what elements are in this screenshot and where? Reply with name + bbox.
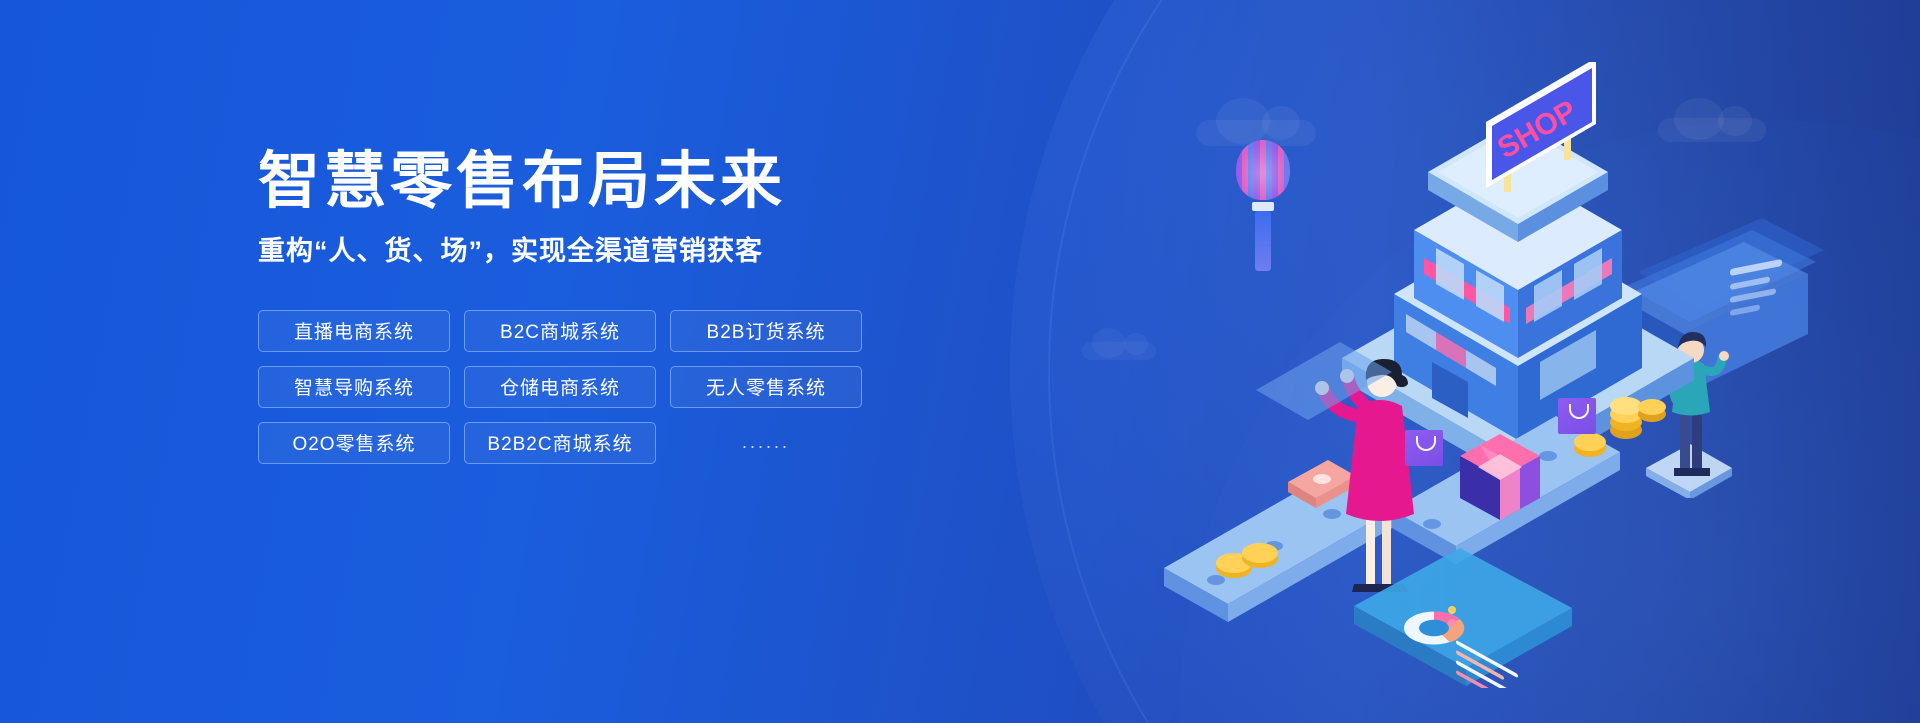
analytics-dashboard-icon [1348, 528, 1578, 688]
solution-tag-o2o-retail[interactable]: O2O零售系统 [258, 422, 450, 464]
solution-tag-more: ...... [670, 422, 862, 464]
page-title: 智慧零售布局未来 [258, 150, 958, 213]
banner-copy: 智慧零售布局未来 重构“人、货、场”，实现全渠道营销获客 直播电商系统 B2C商… [258, 150, 958, 464]
solution-tag-live-ecommerce[interactable]: 直播电商系统 [258, 310, 450, 352]
donut-chart-icon [1404, 612, 1464, 645]
solution-tag-b2b-ordering[interactable]: B2B订货系统 [670, 310, 862, 352]
solution-tag-warehouse[interactable]: 仓储电商系统 [464, 366, 656, 408]
balloon-basket [1252, 202, 1274, 211]
balloon-envelope [1236, 140, 1290, 200]
solution-tag-unmanned-retail[interactable]: 无人零售系统 [670, 366, 862, 408]
solution-tag-smart-guide[interactable]: 智慧导购系统 [258, 366, 450, 408]
solution-tag-b2b2c-mall[interactable]: B2B2C商城系统 [464, 422, 656, 464]
page-subtitle: 重构“人、货、场”，实现全渠道营销获客 [258, 235, 958, 267]
solution-tag-b2c-mall[interactable]: B2C商城系统 [464, 310, 656, 352]
shopping-bag-icon [1558, 398, 1596, 434]
shopping-bag-icon [1405, 430, 1443, 466]
balloon-beam [1255, 211, 1271, 271]
cloud-icon [1082, 342, 1156, 360]
hero-banner: SHOP [0, 0, 1920, 723]
hot-air-balloon-icon [1228, 140, 1298, 280]
solution-tag-list: 直播电商系统 B2C商城系统 B2B订货系统 智慧导购系统 仓储电商系统 无人零… [258, 310, 958, 464]
